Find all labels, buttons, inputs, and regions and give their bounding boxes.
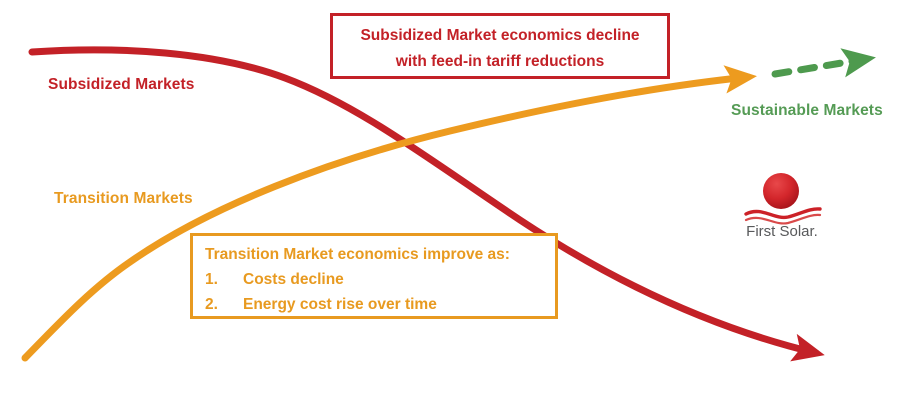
diagram-canvas: Subsidized Markets Transition Markets Su…: [0, 0, 906, 417]
callout-transition-item-1: 1.Costs decline: [205, 267, 555, 292]
sustainable-markets-dashed-arrow: [775, 59, 866, 74]
callout-subsidized-line-2: with feed-in tariff reductions: [333, 49, 667, 75]
callout-transition-item-2-number: 2.: [205, 292, 243, 317]
first-solar-wordmark: First Solar.: [746, 223, 818, 238]
first-solar-logo-graphic: First Solar.: [736, 170, 828, 238]
callout-transition-item-1-text: Costs decline: [243, 271, 344, 288]
callout-subsidized-market-economics: Subsidized Market economics decline with…: [330, 13, 670, 79]
callout-transition-heading: Transition Market economics improve as:: [205, 242, 555, 267]
callout-subsidized-line-1: Subsidized Market economics decline: [333, 23, 667, 49]
series-label-transition-markets: Transition Markets: [54, 190, 193, 208]
sun-sphere-icon: [763, 173, 799, 209]
series-label-sustainable-markets: Sustainable Markets: [731, 102, 883, 120]
callout-transition-item-2-text: Energy cost rise over time: [243, 296, 437, 313]
callout-transition-item-2: 2.Energy cost rise over time: [205, 292, 555, 317]
callout-transition-market-economics: Transition Market economics improve as: …: [190, 233, 558, 319]
first-solar-logo: First Solar.: [736, 170, 828, 238]
series-label-subsidized-markets: Subsidized Markets: [48, 76, 195, 94]
callout-transition-item-1-number: 1.: [205, 267, 243, 292]
